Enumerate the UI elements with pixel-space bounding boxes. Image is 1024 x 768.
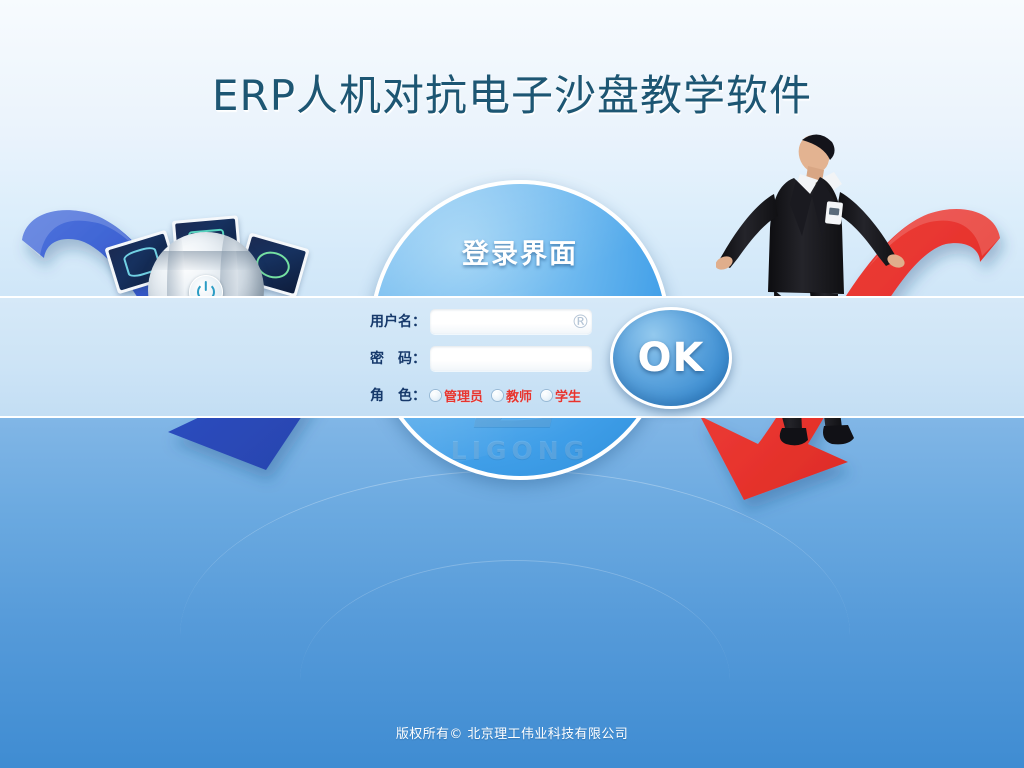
radio-icon[interactable] [430,390,441,401]
role-option-label: 学生 [555,386,581,405]
username-row: 用户名： [362,308,592,334]
registered-mark-icon: ® [571,311,590,333]
radio-icon[interactable] [541,390,552,401]
role-label: 角 色： [362,385,430,405]
password-input[interactable] [430,346,592,371]
role-radio-group: 管理员 教师 学生 [430,386,586,405]
username-input[interactable] [430,309,592,334]
role-row: 角 色： 管理员 教师 学生 [362,382,586,408]
role-option-teacher[interactable]: 教师 [492,386,532,405]
footer-copyright: 版权所有© 北京理工伟业科技有限公司 [0,723,1024,742]
brand-ligong-watermark: LIGONG [374,436,666,465]
ok-button-label: OK [638,335,705,381]
role-option-label: 教师 [506,386,532,405]
role-option-label: 管理员 [444,386,483,405]
password-row: 密 码： [362,345,592,371]
username-label: 用户名： [362,311,430,331]
radio-icon[interactable] [492,390,503,401]
page-title: ERP人机对抗电子沙盘教学软件 [0,62,1024,123]
role-option-admin[interactable]: 管理员 [430,386,483,405]
password-label: 密 码： [362,348,430,368]
login-panel-title: 登录界面 [374,232,666,271]
role-option-student[interactable]: 学生 [541,386,581,405]
ok-button[interactable]: OK [610,307,732,409]
login-form: 用户名： 密 码： 角 色： 管理员 教师 学生 [362,306,602,410]
login-screen: 登录界面 Z LIGONG ® 用户名： 密 码： 角 色： 管理员 教 [0,0,1024,768]
